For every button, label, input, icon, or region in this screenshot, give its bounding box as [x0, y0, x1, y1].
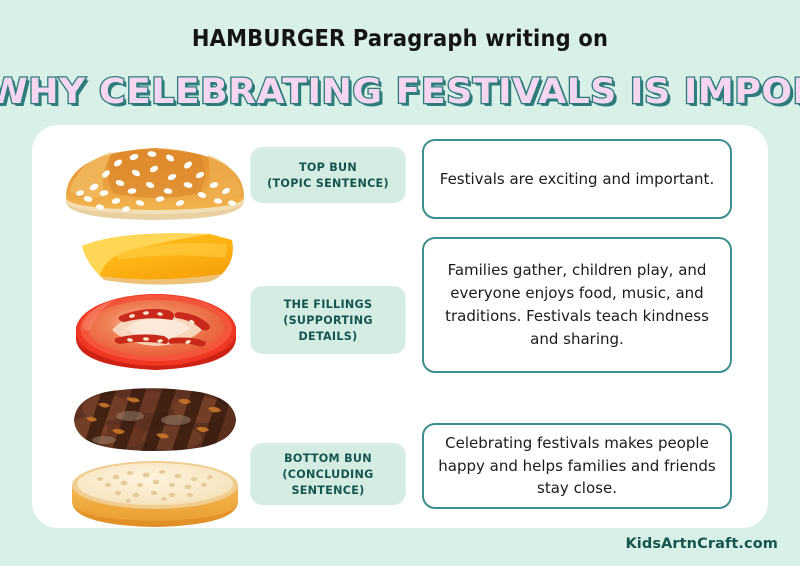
subtitle: HAMBURGER Paragraph writing on: [0, 25, 800, 52]
text-box-topic-sentence: Festivals are exciting and important.: [422, 139, 732, 219]
page-title: WHY CELEBRATING FESTIVALS IS IMPORTANT: [0, 72, 800, 112]
label-chip-fillings: THE FILLINGS (SUPPORTING DETAILS): [250, 286, 405, 354]
text-box-supporting-details: Families gather, children play, and ever…: [422, 237, 732, 373]
chip-line: TOP BUN: [267, 159, 389, 175]
meat-patty-icon: [60, 378, 250, 460]
bottom-bun-icon: [60, 455, 250, 531]
chip-line: (SUPPORTING: [283, 312, 373, 328]
watermark: KidsArtnCraft.com: [625, 536, 778, 552]
chip-line: SENTENCE): [282, 482, 373, 498]
label-chip-top-bun: TOP BUN (TOPIC SENTENCE): [250, 147, 405, 203]
content-card: TOP BUN (TOPIC SENTENCE) THE FILLINGS (S…: [32, 125, 768, 528]
cheese-slice-icon: [60, 226, 250, 288]
text-box-content: Festivals are exciting and important.: [440, 168, 714, 191]
hamburger-illustration: [60, 133, 250, 523]
text-box-content: Celebrating festivals makes people happy…: [438, 432, 716, 500]
text-box-content: Families gather, children play, and ever…: [438, 259, 716, 350]
text-box-concluding-sentence: Celebrating festivals makes people happy…: [422, 423, 732, 509]
tomato-slice-icon: [60, 286, 250, 374]
chip-line: (CONCLUDING: [282, 466, 373, 482]
chip-line: (TOPIC SENTENCE): [267, 175, 389, 191]
chip-line: THE FILLINGS: [283, 296, 373, 312]
top-bun-icon: [60, 141, 250, 227]
label-chip-bottom-bun: BOTTOM BUN (CONCLUDING SENTENCE): [250, 443, 405, 505]
chip-line: DETAILS): [283, 328, 373, 344]
header: HAMBURGER Paragraph writing on WHY CELEB…: [0, 0, 800, 125]
chip-line: BOTTOM BUN: [282, 450, 373, 466]
